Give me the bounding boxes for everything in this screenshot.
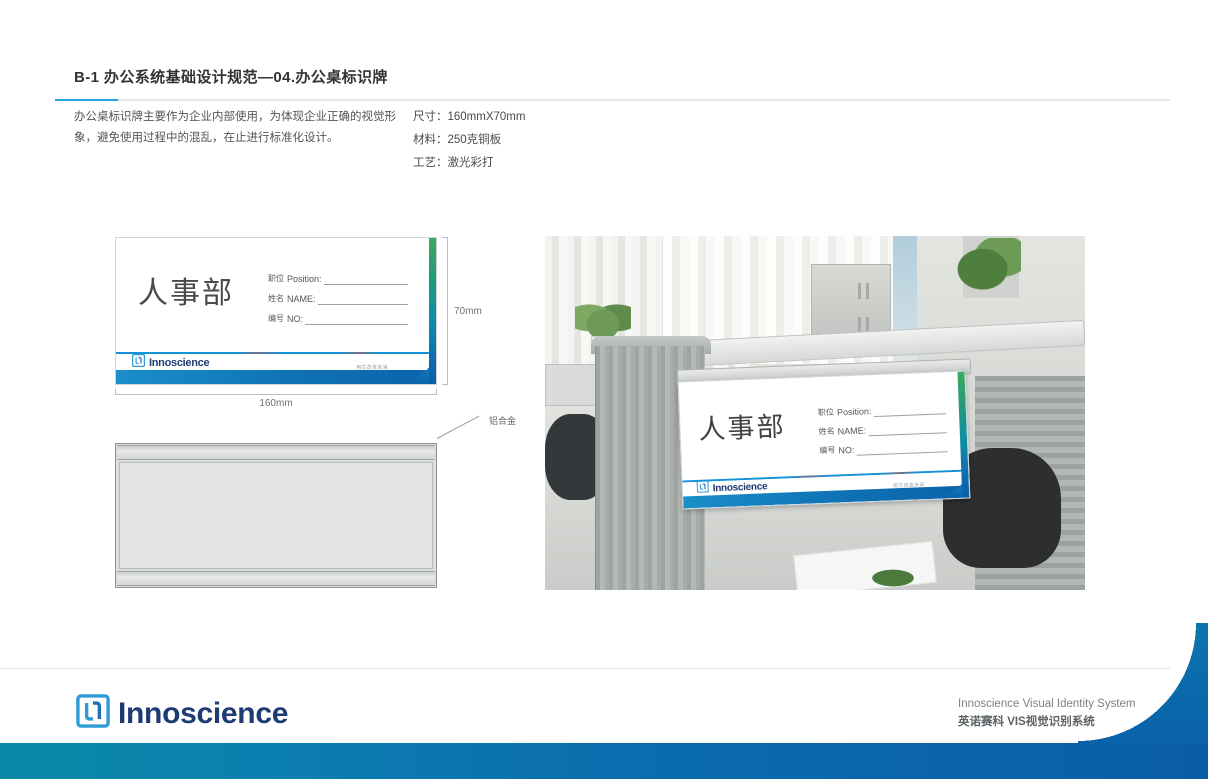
- width-dimension-label: 160mm: [115, 398, 437, 409]
- field-name-en: NAME:: [287, 293, 316, 305]
- header-divider: [55, 99, 1170, 101]
- nameplate-tagline: 用芯改变未来: [356, 364, 388, 371]
- height-dimension: 70mm: [442, 237, 482, 385]
- right-edge-gradient-band: [1183, 0, 1208, 779]
- photo-nameplate-card: 人事部 职位 Position: 姓名 NAME: 编号 NO:: [678, 371, 971, 510]
- photo-field-name-cn: 姓名: [818, 426, 834, 439]
- field-position-line: [324, 274, 408, 285]
- page-title-text: B-1 办公系统基础设计规范—04.办公桌标识牌: [74, 66, 388, 87]
- nameplate-edge-gradient: [429, 238, 436, 384]
- field-position-en: Position:: [287, 273, 322, 285]
- footer-logo: Innoscience: [76, 694, 288, 733]
- footer-divider: [0, 668, 1170, 669]
- width-dimension: 160mm: [115, 389, 437, 409]
- photo-nameplate-tagline: 用芯改变未来: [893, 481, 925, 489]
- callout-label: 铝合金: [489, 414, 516, 427]
- nameplate-band-fill: [116, 370, 436, 384]
- nameplate-artwork: 人事部 职位 Position: 姓名 NAME: 编号 NO:: [115, 237, 437, 385]
- footer-brand-text: Innoscience: [118, 697, 288, 731]
- intro-paragraph: 办公桌标识牌主要作为企业内部使用，为体现企业正确的视觉形象，避免使用过程中的混乱…: [74, 107, 404, 149]
- height-dimension-bar: [442, 237, 448, 385]
- callout-leader-line: [437, 416, 480, 439]
- photo-nameplate-fields: 职位 Position: 姓名 NAME: 编号 NO:: [818, 402, 948, 464]
- header-accent-segment: [55, 99, 118, 101]
- field-name-line: [318, 294, 408, 305]
- profile-top-rail: [117, 445, 435, 460]
- intro-description: 办公桌标识牌主要作为企业内部使用，为体现企业正确的视觉形象，避免使用过程中的混乱…: [74, 107, 404, 149]
- field-position-cn: 职位: [268, 273, 284, 285]
- width-dimension-bar: [115, 389, 437, 395]
- field-no-en: NO:: [287, 313, 303, 325]
- photo-innoscience-logo-mark: [696, 479, 709, 497]
- photo-nameplate-logo: Innoscience: [696, 477, 767, 498]
- photo-locker: [811, 264, 891, 339]
- aluminium-profile-drawing: [115, 443, 437, 588]
- field-name: 姓名 NAME:: [268, 293, 408, 305]
- photo-nameplate-department: 人事部: [698, 404, 786, 446]
- profile-bottom-rail: [117, 571, 435, 586]
- innoscience-logo-mark: [132, 354, 145, 372]
- nameplate-department: 人事部: [138, 268, 234, 312]
- nameplate-brand-text: Innoscience: [149, 357, 209, 369]
- bottom-gradient-bar: [0, 743, 1208, 779]
- photo-desk-leaf: [863, 566, 923, 590]
- spec-list: 尺寸：160mmX70mm 材料：250克铜板 工艺：激光彩打: [413, 106, 525, 175]
- photo-field-no: 编号 NO:: [819, 440, 947, 457]
- photo-field-position: 职位 Position:: [818, 402, 946, 419]
- field-name-cn: 姓名: [268, 293, 284, 305]
- field-no-cn: 编号: [268, 313, 284, 325]
- spec-process: 工艺：激光彩打: [413, 152, 525, 175]
- photo-hanging-plant: [957, 238, 1021, 290]
- spec-size: 尺寸：160mmX70mm: [413, 106, 525, 129]
- photo-field-no-line: [856, 441, 947, 455]
- photo-field-no-cn: 编号: [819, 445, 835, 458]
- spec-material: 材料：250克铜板: [413, 129, 525, 152]
- photo-field-name-en: NAME:: [837, 424, 866, 437]
- height-dimension-label: 70mm: [454, 306, 482, 317]
- field-no-line: [305, 314, 408, 325]
- nameplate-card: 人事部 职位 Position: 姓名 NAME: 编号 NO:: [115, 237, 437, 385]
- nameplate-fields: 职位 Position: 姓名 NAME: 编号 NO:: [268, 273, 408, 333]
- nameplate-logo: Innoscience: [132, 354, 209, 372]
- footer-innoscience-logo-mark: [76, 694, 110, 733]
- photo-field-name: 姓名 NAME:: [818, 421, 946, 438]
- office-mockup-photo: 人事部 职位 Position: 姓名 NAME: 编号 NO:: [545, 236, 1085, 590]
- profile-face: [119, 462, 433, 569]
- field-no: 编号 NO:: [268, 313, 408, 325]
- photo-nameplate-brand-text: Innoscience: [713, 481, 768, 494]
- photo-field-position-cn: 职位: [818, 407, 834, 420]
- photo-field-position-en: Position:: [837, 405, 872, 418]
- photo-field-no-en: NO:: [838, 444, 854, 457]
- field-position: 职位 Position:: [268, 273, 408, 285]
- photo-field-position-line: [873, 403, 946, 417]
- page-title: B-1 办公系统基础设计规范—04.办公桌标识牌: [74, 66, 388, 87]
- photo-field-name-line: [868, 422, 947, 436]
